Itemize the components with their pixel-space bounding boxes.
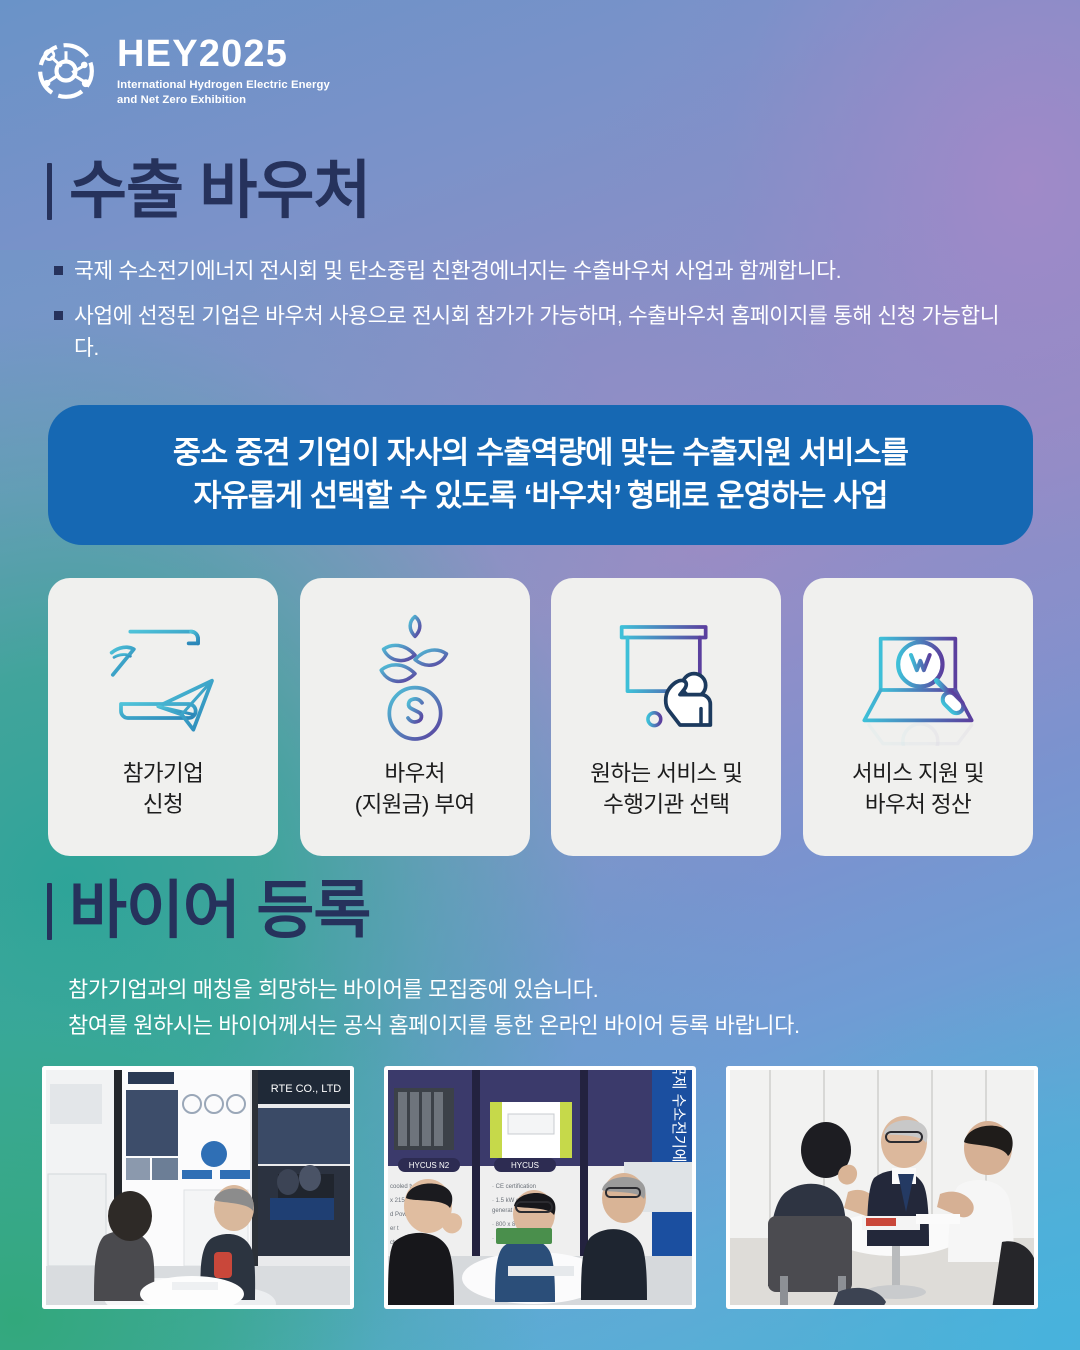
section-heading-buyer: 바이어 등록 <box>47 880 370 943</box>
brand-subtitle-line1: International Hydrogen Electric Energy <box>117 79 330 91</box>
voucher-process-cards: 참가기업 신청 바우 <box>48 578 1033 856</box>
card-label-line2: (지원금) 부여 <box>355 792 475 817</box>
hydrogen-wheel-logo-icon <box>28 33 104 109</box>
process-card-label: 서비스 지원 및 바우처 정산 <box>852 758 984 820</box>
process-card-settlement[interactable]: 서비스 지원 및 바우처 정산 <box>803 578 1033 856</box>
page-title-voucher: 수출 바우처 <box>69 160 370 223</box>
process-card-application[interactable]: 참가기업 신청 <box>48 578 278 856</box>
card-label-line2: 신청 <box>143 792 183 817</box>
hycus-booth-discussion-photo: HYCUS N2 HYCUS cooled type FC-x 215 x d … <box>384 1066 696 1309</box>
heading-accent-bar <box>47 883 52 940</box>
section-heading-voucher: 수출 바우처 <box>47 160 370 223</box>
process-card-service-selection[interactable]: 원하는 서비스 및 수행기관 선택 <box>551 578 781 856</box>
scroll-quill-paperplane-icon <box>93 606 233 746</box>
svg-text:HYCUS: HYCUS <box>511 1161 539 1170</box>
buyer-photo-gallery: RTE CO., LTD <box>42 1066 1038 1309</box>
card-label-line2: 바우처 정산 <box>865 792 971 817</box>
bullet-text: 국제 수소전기에너지 전시회 및 탄소중립 친환경에너지는 수출바우처 사업과 … <box>74 255 841 288</box>
card-label-line1: 서비스 지원 및 <box>852 761 984 786</box>
exhibition-booth-meeting-photo: RTE CO., LTD <box>42 1066 354 1309</box>
card-label-line1: 바우처 <box>385 761 445 786</box>
callout-line-1: 중소 중견 기업이 자사의 수출역량에 맞는 수출지원 서비스를 <box>173 432 908 475</box>
list-item: 국제 수소전기에너지 전시회 및 탄소중립 친환경에너지는 수출바우처 사업과 … <box>50 255 1010 288</box>
voucher-bullet-list: 국제 수소전기에너지 전시회 및 탄소중립 친환경에너지는 수출바우처 사업과 … <box>50 255 1010 377</box>
svg-text:· 800 x 8: · 800 x 8 <box>492 1222 516 1228</box>
brand-logo: HEY2025 International Hydrogen Electric … <box>28 33 330 109</box>
process-card-voucher-grant[interactable]: 바우처 (지원금) 부여 <box>300 578 530 856</box>
brand-subtitle: International Hydrogen Electric Energy a… <box>117 78 330 108</box>
svg-text:RTE CO., LTD: RTE CO., LTD <box>271 1083 342 1095</box>
bullet-square-icon <box>54 266 63 275</box>
svg-text:d Pow: d Pow <box>390 1212 407 1218</box>
callout-line-2: 자유롭게 선택할 수 있도록 ‘바우처’ 형태로 운영하는 사업 <box>193 475 887 518</box>
bullet-square-icon <box>54 311 63 320</box>
presentation-board-person-icon <box>596 606 736 746</box>
page-title-buyer: 바이어 등록 <box>69 880 370 943</box>
process-card-label: 바우처 (지원금) 부여 <box>355 758 475 820</box>
card-label-line1: 원하는 서비스 및 <box>590 761 742 786</box>
process-card-label: 참가기업 신청 <box>123 758 203 820</box>
svg-text:generat: generat <box>492 1208 513 1214</box>
buyer-description: 참가기업과의 매칭을 희망하는 바이어를 모집중에 있습니다. 참여를 원하시는… <box>68 972 1018 1043</box>
process-card-label: 원하는 서비스 및 수행기관 선택 <box>590 758 742 820</box>
buyer-description-line1: 참가기업과의 매칭을 희망하는 바이어를 모집중에 있습니다. <box>68 972 1018 1008</box>
brand-logo-text: HEY2025 International Hydrogen Electric … <box>117 35 330 108</box>
poster-page: HEY2025 International Hydrogen Electric … <box>0 0 1080 1350</box>
buyer-matching-table-photo <box>726 1066 1038 1309</box>
svg-text:HYCUS N2: HYCUS N2 <box>409 1161 450 1170</box>
svg-text:er t: er t <box>390 1226 399 1232</box>
heading-accent-bar <box>47 163 52 220</box>
brand-title: HEY2025 <box>117 35 330 73</box>
laptop-magnifier-won-icon <box>848 606 988 746</box>
plant-coin-dollar-icon <box>345 606 485 746</box>
list-item: 사업에 선정된 기업은 바우처 사용으로 전시회 참가가 가능하며, 수출바우처… <box>50 300 1010 365</box>
buyer-description-line2: 참여를 원하시는 바이어께서는 공식 홈페이지를 통한 온라인 바이어 등록 바… <box>68 1008 1018 1044</box>
svg-text:· CE certification: · CE certification <box>492 1184 536 1190</box>
voucher-definition-callout: 중소 중견 기업이 자사의 수출역량에 맞는 수출지원 서비스를 자유롭게 선택… <box>48 405 1033 545</box>
bullet-text: 사업에 선정된 기업은 바우처 사용으로 전시회 참가가 가능하며, 수출바우처… <box>74 300 1010 365</box>
card-label-line1: 참가기업 <box>123 761 203 786</box>
brand-subtitle-line2: and Net Zero Exhibition <box>117 94 246 106</box>
card-label-line2: 수행기관 선택 <box>603 792 729 817</box>
